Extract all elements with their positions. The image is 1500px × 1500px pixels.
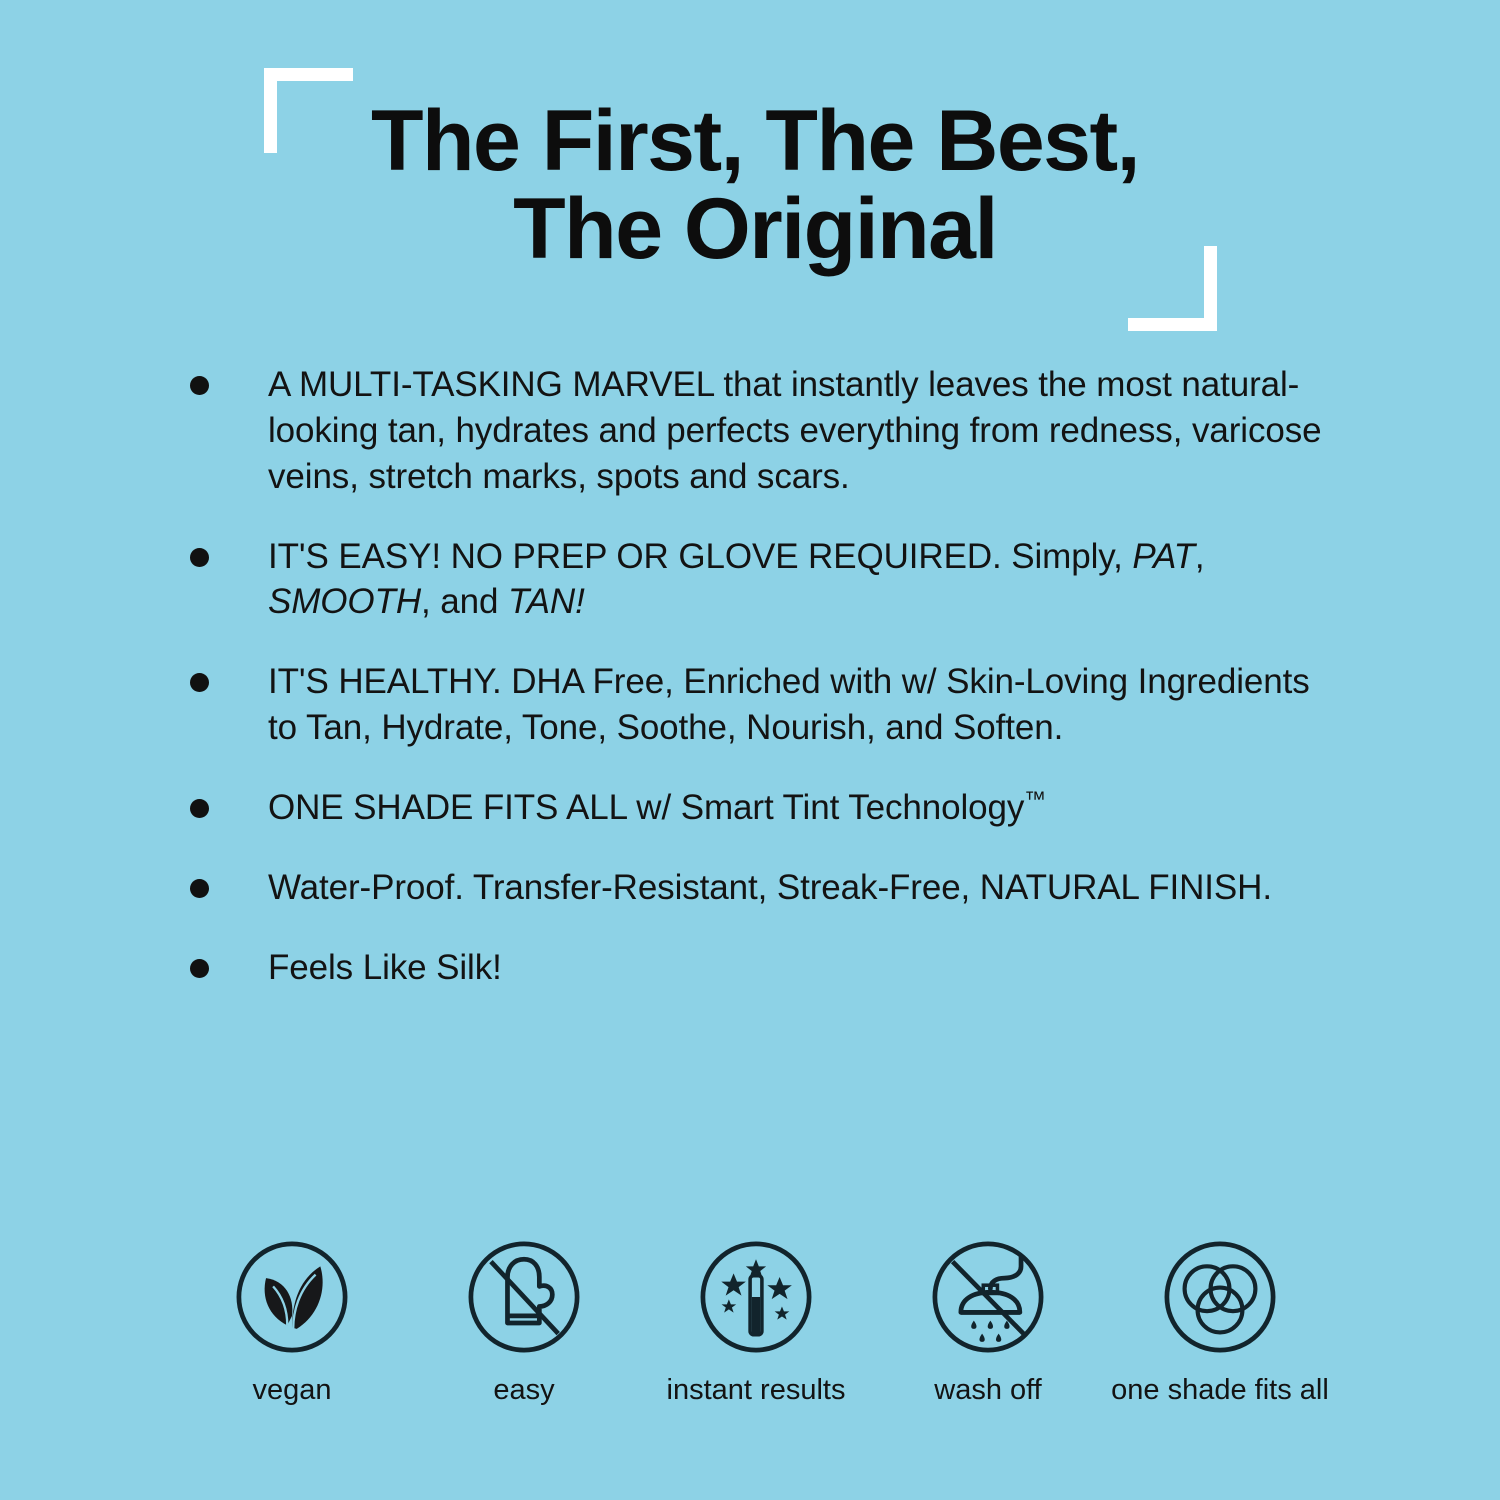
list-item: Water-Proof. Transfer-Resistant, Streak-… [0,865,1500,911]
badge-easy: easy [408,1238,640,1407]
badge-instant-results: instant results [640,1238,872,1407]
benefits-list: A MULTI-TASKING MARVEL that instantly le… [0,362,1500,1024]
list-item-text-its-easy: IT'S EASY! NO PREP OR GLOVE REQUIRED. Si… [268,534,1340,626]
no-shower-icon [929,1238,1047,1356]
magic-wand-icon [697,1238,815,1356]
badge-one-shade-fits-all: one shade fits all [1104,1238,1336,1407]
badge-label: one shade fits all [1111,1374,1329,1407]
list-item-text-feels-like-silk: Feels Like Silk! [268,945,1340,991]
list-item: A MULTI-TASKING MARVEL that instantly le… [0,362,1500,500]
overlapping-circles-icon [1161,1238,1279,1356]
list-item-text-multi-tasking-marvel: A MULTI-TASKING MARVEL that instantly le… [268,362,1340,500]
list-item-text-one-shade-fits-all: ONE SHADE FITS ALL w/ Smart Tint Technol… [268,785,1340,831]
heading-block: The First, The Best, The Original [0,0,1500,330]
badge-label: vegan [252,1374,331,1407]
product-benefits-infographic: { "background_color": "#8dd2e6", "text_c… [0,0,1500,1500]
bullet-dot-icon [190,959,209,978]
trademark-symbol: ™ [1024,786,1046,811]
badge-row: vegan easy instant results [0,1238,1500,1407]
bullet-dot-icon [190,548,209,567]
list-item-text-its-healthy: IT'S HEALTHY. DHA Free, Enriched with w/… [268,659,1340,751]
headline-line-2: The Original [0,186,1500,274]
bullet-dot-icon [190,879,209,898]
bullet-dot-icon [190,376,209,395]
badge-wash-off: wash off [872,1238,1104,1407]
list-item: IT'S EASY! NO PREP OR GLOVE REQUIRED. Si… [0,534,1500,626]
no-glove-icon [465,1238,583,1356]
list-item: ONE SHADE FITS ALL w/ Smart Tint Technol… [0,785,1500,831]
bullet-dot-icon [190,799,209,818]
list-item: Feels Like Silk! [0,945,1500,991]
badge-label: instant results [667,1374,846,1407]
list-item-text-water-proof: Water-Proof. Transfer-Resistant, Streak-… [268,865,1340,911]
badge-label: easy [493,1374,554,1407]
page-title: The First, The Best, The Original [0,98,1500,273]
badge-label: wash off [934,1374,1041,1407]
badge-vegan: vegan [176,1238,408,1407]
list-item: IT'S HEALTHY. DHA Free, Enriched with w/… [0,659,1500,751]
headline-line-1: The First, The Best, [0,98,1500,186]
leaf-icon [233,1238,351,1356]
bullet-dot-icon [190,673,209,692]
